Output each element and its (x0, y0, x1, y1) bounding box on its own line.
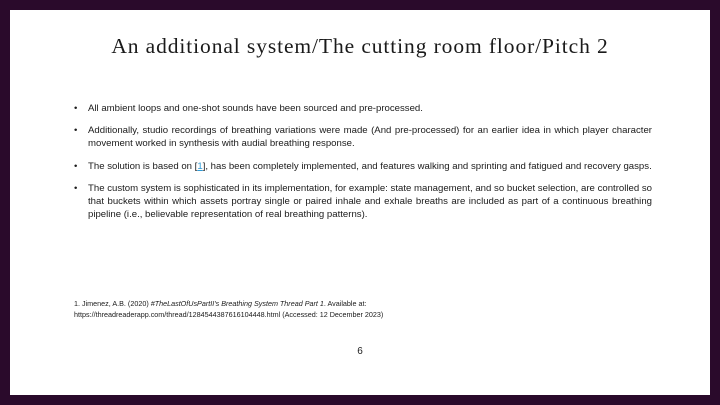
bullet-list: • All ambient loops and one-shot sounds … (74, 102, 652, 221)
footnote-suffix: . Available at: (324, 299, 367, 308)
list-item-text: The custom system is sophisticated in it… (88, 183, 652, 220)
list-item-text: All ambient loops and one-shot sounds ha… (88, 103, 423, 114)
list-item: • The solution is based on [1], has been… (74, 160, 652, 173)
list-item-text-after-citation: ], has been completely implemented, and … (203, 161, 652, 172)
list-item: • Additionally, studio recordings of bre… (74, 124, 652, 150)
bullet-marker: • (74, 160, 77, 173)
footnote-title: #TheLastOfUsPartII's Breathing System Th… (151, 299, 324, 308)
bullet-marker: • (74, 124, 77, 137)
list-item: • The custom system is sophisticated in … (74, 182, 652, 222)
list-item-text-before-citation: The solution is based on [ (88, 161, 197, 172)
slide-canvas: An additional system/The cutting room fl… (0, 0, 720, 405)
list-item: • All ambient loops and one-shot sounds … (74, 102, 652, 115)
bullet-marker: • (74, 102, 77, 115)
slide-content-area: An additional system/The cutting room fl… (10, 10, 710, 395)
footnote-prefix: 1. Jimenez, A.B. (2020) (74, 299, 151, 308)
footnote-reference: 1. Jimenez, A.B. (2020) #TheLastOfUsPart… (74, 298, 574, 320)
page-number: 6 (10, 346, 710, 357)
list-item-text: Additionally, studio recordings of breat… (88, 125, 652, 149)
slide-body: • All ambient loops and one-shot sounds … (74, 102, 652, 221)
footnote-url: https://threadreaderapp.com/thread/12845… (74, 310, 383, 319)
bullet-marker: • (74, 182, 77, 195)
page-title: An additional system/The cutting room fl… (64, 32, 656, 60)
